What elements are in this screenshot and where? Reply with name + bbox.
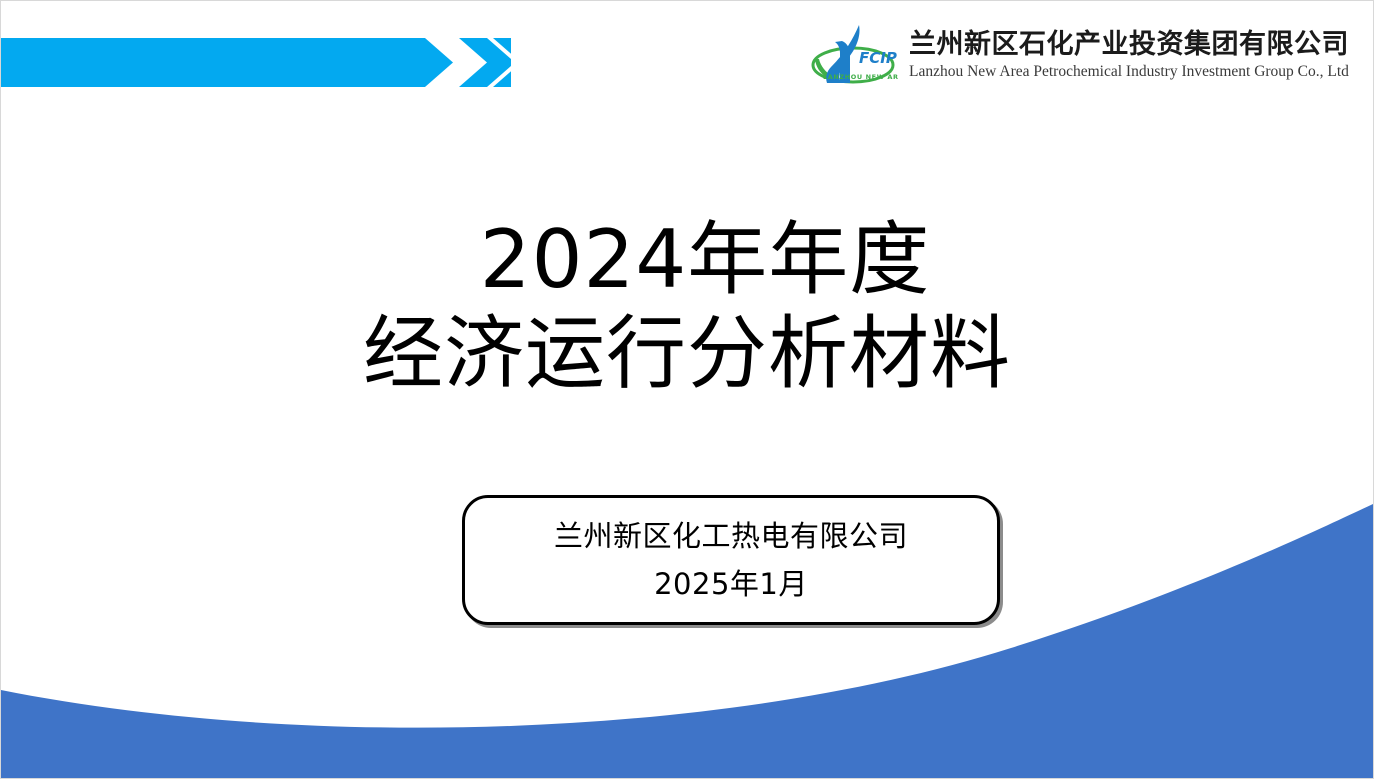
title-line-1: 2024年年度 bbox=[1, 213, 1373, 307]
fcip-logo-icon: FCIP LANZHOU NEW AREA bbox=[807, 23, 899, 89]
company-name-en: Lanzhou New Area Petrochemical Industry … bbox=[909, 62, 1349, 81]
svg-text:FCIP: FCIP bbox=[859, 49, 897, 67]
company-name-group: 兰州新区石化产业投资集团有限公司 Lanzhou New Area Petroc… bbox=[909, 30, 1349, 82]
slide-title: 2024年年度 经济运行分析材料 bbox=[1, 213, 1373, 401]
presentation-title-slide: FCIP LANZHOU NEW AREA 兰州新区石化产业投资集团有限公司 L… bbox=[0, 0, 1374, 779]
svg-text:LANZHOU NEW AREA: LANZHOU NEW AREA bbox=[823, 73, 899, 81]
chevron-right-triple-icon bbox=[1, 38, 511, 87]
presenter-info-box: 兰州新区化工热电有限公司 2025年1月 bbox=[462, 495, 1000, 625]
presenter-date: 2025年1月 bbox=[654, 563, 808, 605]
title-line-2: 经济运行分析材料 bbox=[1, 307, 1373, 401]
company-name-cn: 兰州新区石化产业投资集团有限公司 bbox=[909, 30, 1349, 59]
presenter-company: 兰州新区化工热电有限公司 bbox=[554, 515, 908, 557]
company-logo-block: FCIP LANZHOU NEW AREA 兰州新区石化产业投资集团有限公司 L… bbox=[807, 23, 1349, 89]
header-accent-banner bbox=[1, 38, 511, 87]
